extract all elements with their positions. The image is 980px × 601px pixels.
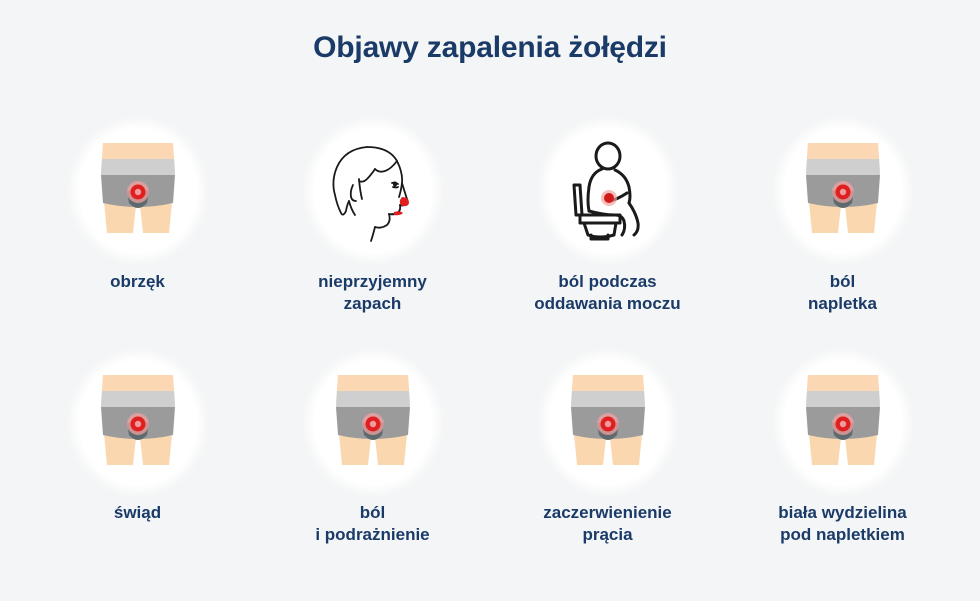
icon-disc (79, 360, 197, 485)
symptom-card-biala-wydzielina-pod-napletkiem[interactable]: biała wydzielina pod napletkiem (725, 360, 960, 592)
icon-disc (79, 128, 197, 253)
symptom-label: ból i podrażnienie (315, 502, 429, 547)
symptom-label: zaczerwienienie prącia (543, 502, 672, 547)
symptom-card-bol-napletka[interactable]: ból napletka (725, 128, 960, 360)
symptom-card-bol-i-podraznienie[interactable]: ból i podrażnienie (255, 360, 490, 592)
symptoms-infographic: Objawy zapalenia żołędzi obrzęk (0, 0, 980, 601)
groin-redness-icon (557, 369, 659, 477)
symptom-label: biała wydzielina pod napletkiem (778, 502, 907, 547)
symptoms-grid: obrzęk (20, 128, 960, 592)
icon-disc (314, 128, 432, 253)
symptom-label: ból podczas oddawania moczu (534, 271, 680, 316)
groin-discharge-icon (792, 369, 894, 477)
icon-disc (784, 360, 902, 485)
symptom-card-bol-podczas-oddawania-moczu[interactable]: ból podczas oddawania moczu (490, 128, 725, 360)
groin-swelling-icon (87, 137, 189, 245)
symptom-label: obrzęk (110, 271, 165, 293)
groin-itch-icon (87, 369, 189, 477)
icon-disc (549, 128, 667, 253)
groin-irritation-icon (322, 369, 424, 477)
icon-disc (314, 360, 432, 485)
symptom-card-nieprzyjemny-zapach[interactable]: nieprzyjemny zapach (255, 128, 490, 360)
symptom-label: nieprzyjemny zapach (318, 271, 427, 316)
symptom-card-obrzek[interactable]: obrzęk (20, 128, 255, 360)
head-profile-smell-icon (323, 139, 423, 243)
symptom-label: świąd (114, 502, 161, 524)
icon-disc (784, 128, 902, 253)
symptom-label: ból napletka (808, 271, 877, 316)
groin-pain-icon (792, 137, 894, 245)
icon-disc (549, 360, 667, 485)
page-title: Objawy zapalenia żołędzi (0, 31, 980, 65)
symptom-card-swiad[interactable]: świąd (20, 360, 255, 592)
symptom-card-zaczerwienienie-pracia[interactable]: zaczerwienienie prącia (490, 360, 725, 592)
person-on-toilet-icon (558, 139, 658, 243)
